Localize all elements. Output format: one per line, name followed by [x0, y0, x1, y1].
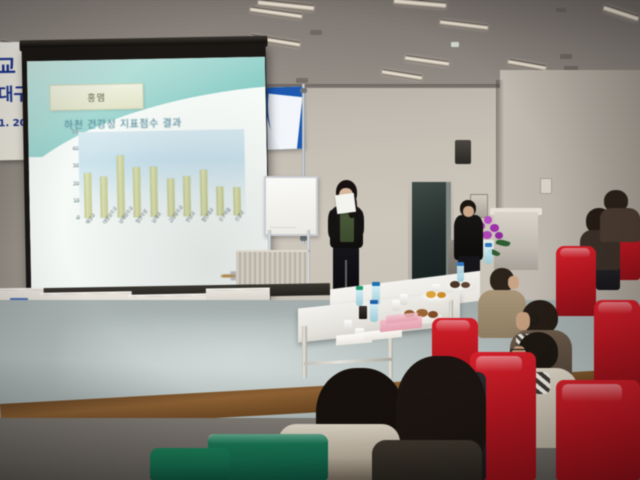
fur-collar-coat: [372, 440, 482, 480]
seat-highlight: [476, 356, 522, 372]
person-face: [516, 312, 530, 330]
front-row-seat[interactable]: [150, 448, 230, 480]
person-face: [508, 276, 519, 289]
seat-highlight: [436, 320, 470, 332]
seat-highlight: [562, 384, 622, 402]
audience-area: [0, 0, 640, 480]
front-row-seat-shadow: [208, 434, 328, 444]
seat-highlight: [598, 302, 632, 314]
photo-scene: 교 대 대구 · 1. 20(금) 1 표회 표회 대학교 환경공학과 홍맴 하…: [0, 0, 640, 480]
seat-highlight: [560, 248, 590, 258]
person-torso: [600, 208, 640, 242]
